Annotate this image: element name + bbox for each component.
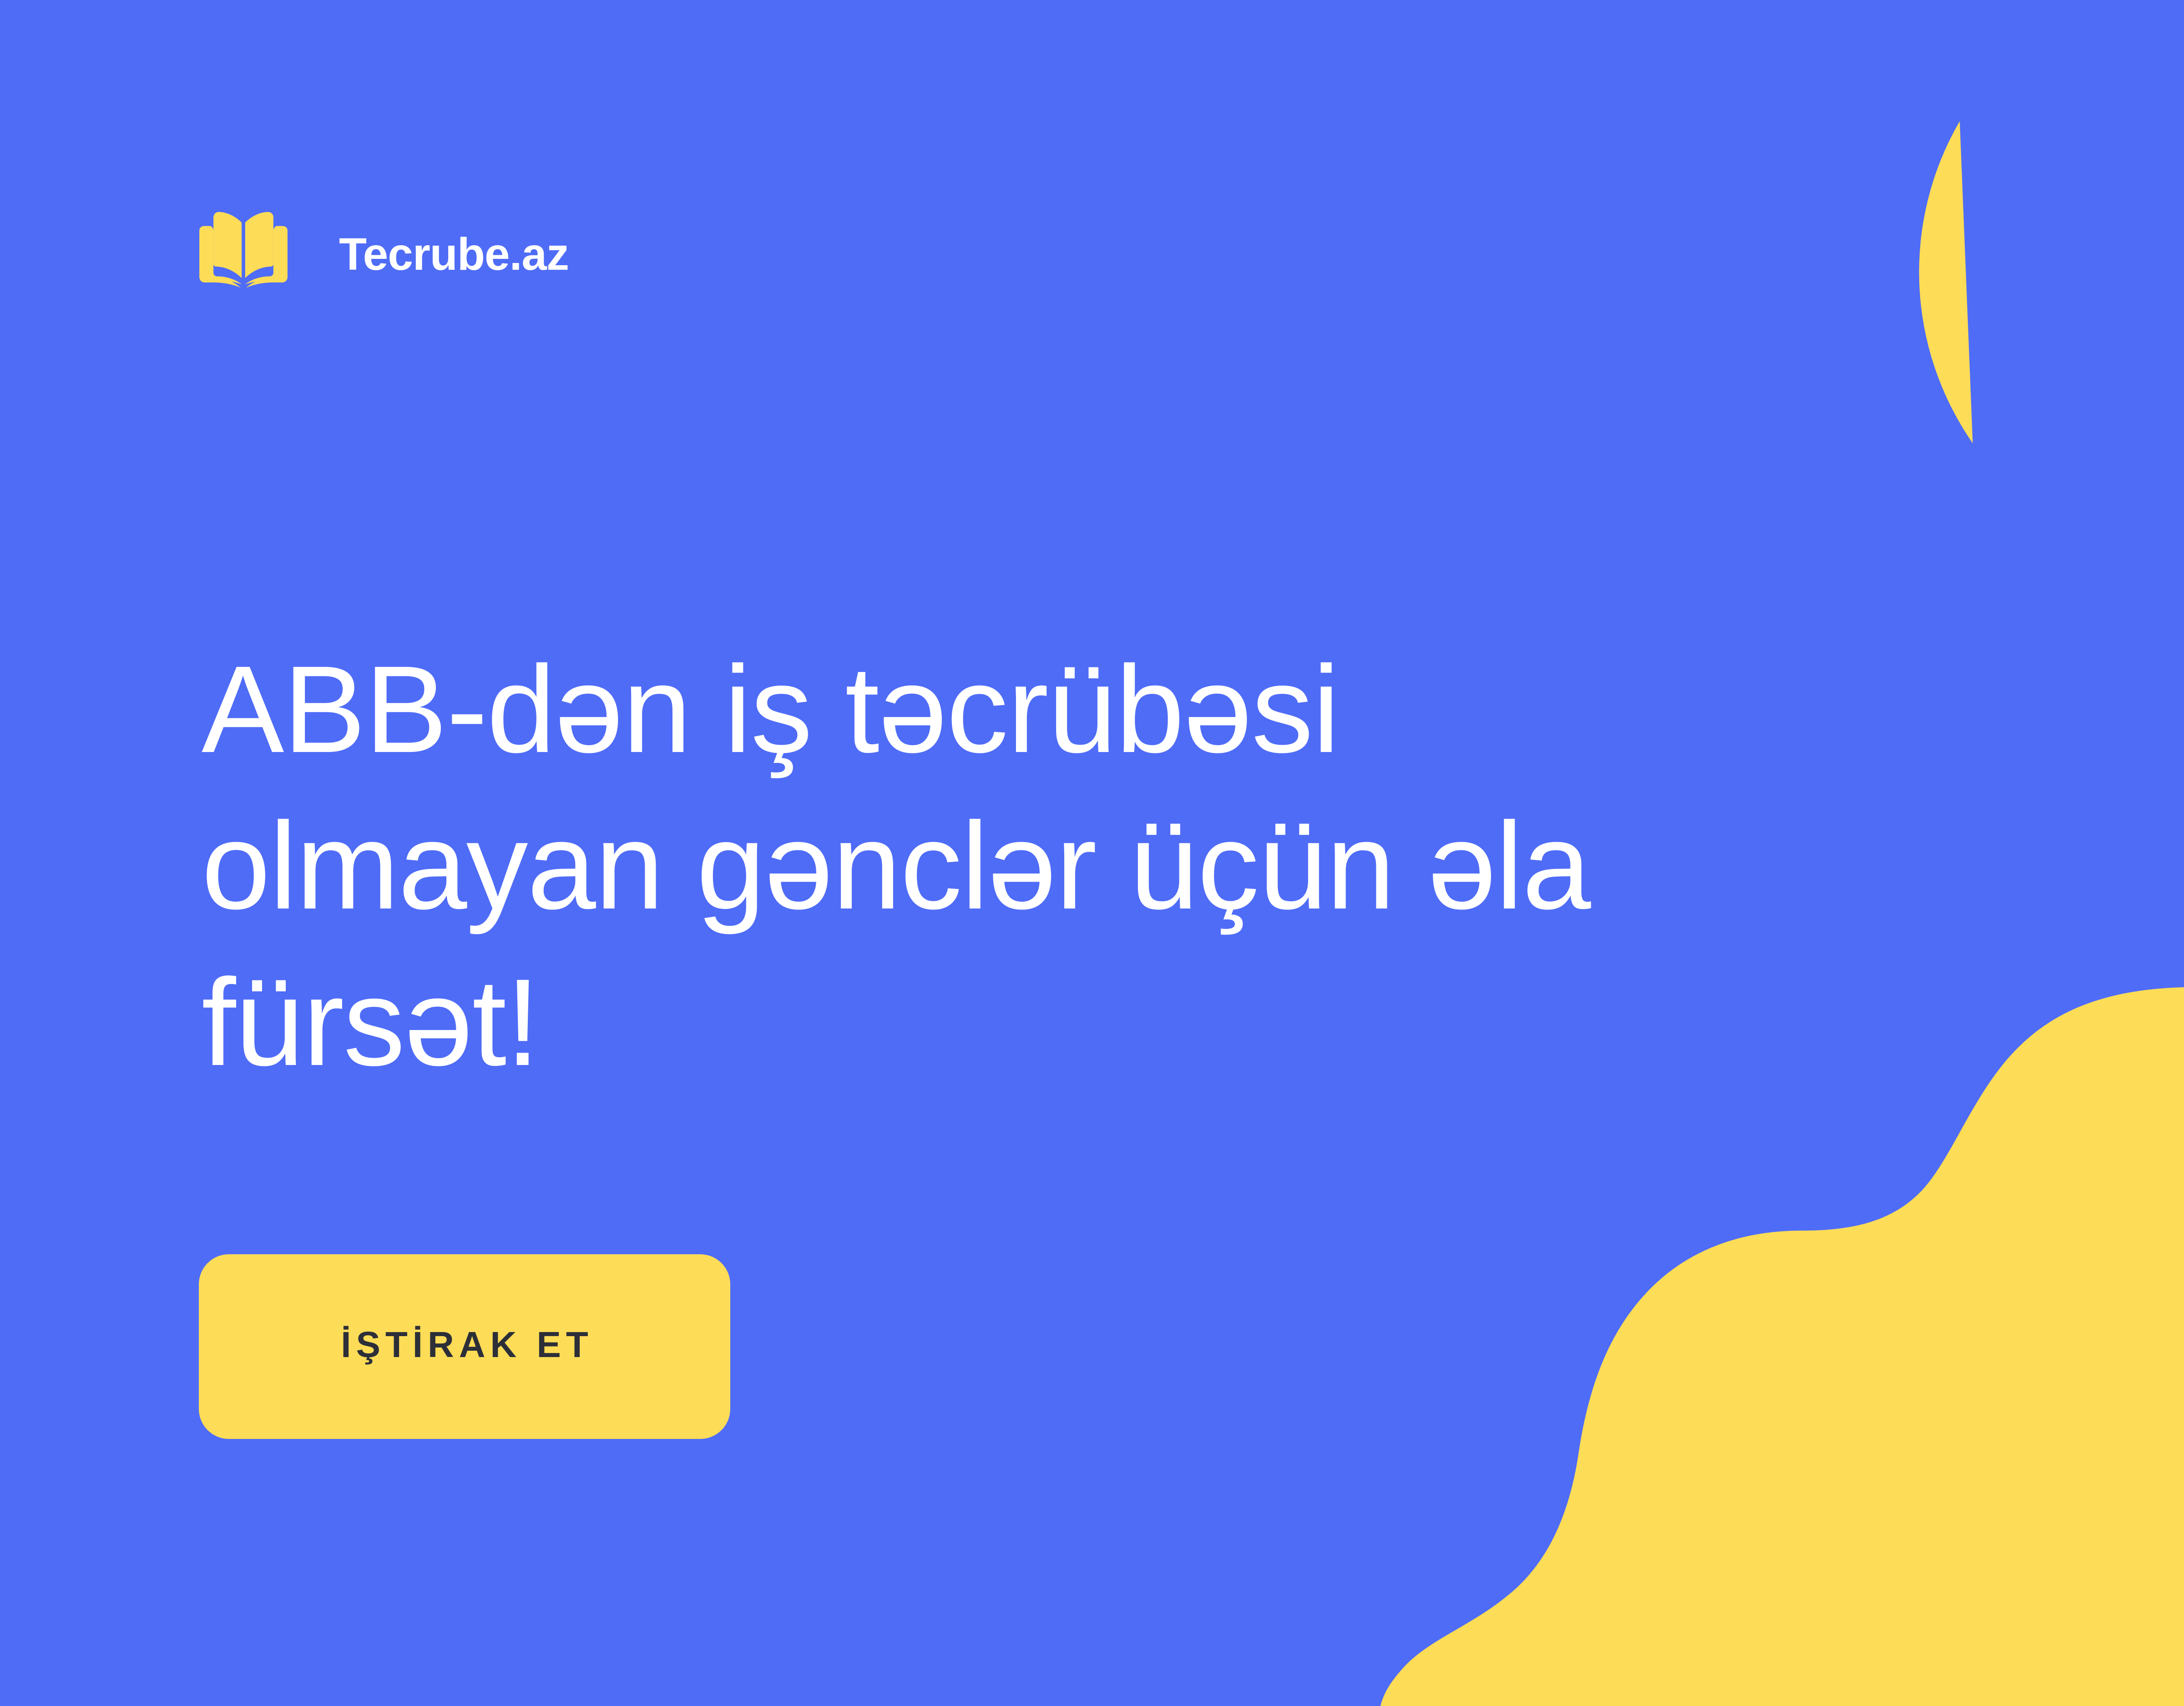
open-book-icon bbox=[199, 210, 288, 295]
promo-poster: Tecrube.az ABB-dən iş təcrübəsi olmayan … bbox=[0, 0, 2184, 1706]
headline-line-1: ABB-dən iş təcrübəsi bbox=[202, 631, 1680, 787]
headline-line-3: fürsət! bbox=[202, 944, 1680, 1100]
brand-name: Tecrube.az bbox=[339, 232, 569, 277]
page-title: ABB-dən iş təcrübəsi olmayan gənclər üçü… bbox=[202, 631, 1680, 1100]
participate-button-label: İŞTİRAK ET bbox=[336, 1327, 593, 1363]
participate-button[interactable]: İŞTİRAK ET bbox=[199, 1254, 730, 1439]
headline-line-2: olmayan gənclər üçün əla bbox=[202, 787, 1680, 944]
half-circle-shape bbox=[1806, 121, 2126, 443]
brand-logo[interactable]: Tecrube.az bbox=[199, 207, 569, 298]
